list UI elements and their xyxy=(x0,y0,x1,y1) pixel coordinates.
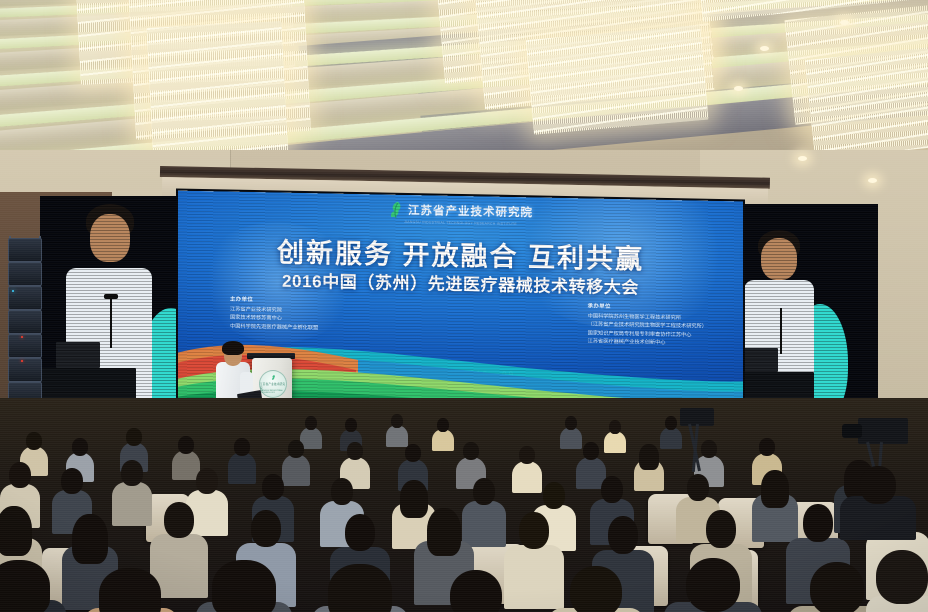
camera-rig-right xyxy=(836,416,926,536)
audience-head xyxy=(121,460,143,486)
audience-head xyxy=(345,418,357,432)
speaker-cabinet xyxy=(8,262,42,286)
wall-downlight xyxy=(798,156,807,161)
audience-head xyxy=(345,514,375,551)
audience-member xyxy=(386,414,408,444)
podium-emblem-line2: JIANGSU INDUSTRIAL TECHNOLOGY xyxy=(260,390,286,394)
audience-head xyxy=(706,510,736,548)
status-led xyxy=(12,290,14,292)
audience-head xyxy=(262,474,284,500)
audience-head xyxy=(61,468,83,494)
audience-long-hair xyxy=(99,568,161,612)
audience-head xyxy=(601,476,623,503)
camera-body xyxy=(858,418,908,444)
audience-body xyxy=(112,482,152,526)
audience-head xyxy=(803,504,833,542)
speaker-cabinet xyxy=(8,310,42,334)
audience-head xyxy=(565,416,577,430)
conference-hall-photo: 江苏省产业技术研究院 JIANGSU INDUSTRIAL TECHNOLOGY… xyxy=(0,0,928,612)
speaker-cabinet xyxy=(8,238,42,262)
podium-emblem: 江苏省产业技术研究院 JIANGSU INDUSTRIAL TECHNOLOGY xyxy=(259,370,287,398)
audience-head xyxy=(72,438,88,456)
crystal-chandelier xyxy=(805,43,928,160)
green-leaf-icon xyxy=(271,374,276,381)
audience-long-hair xyxy=(0,506,32,556)
speaker-cabinet xyxy=(8,358,42,382)
audience-long-hair xyxy=(639,444,659,470)
audience-head xyxy=(543,482,565,509)
audience-head xyxy=(26,432,42,450)
audience-head xyxy=(759,438,775,456)
audience-head xyxy=(609,420,621,434)
status-led xyxy=(21,360,23,362)
audience-head xyxy=(450,570,502,612)
camera-rig-center xyxy=(666,408,726,478)
crystal-chandelier xyxy=(526,25,709,135)
speaker-hair xyxy=(222,341,244,355)
status-led xyxy=(21,336,23,338)
audience-head xyxy=(810,562,864,612)
operator-head xyxy=(860,466,896,504)
audience-body xyxy=(432,429,454,451)
audience-member xyxy=(84,568,178,612)
audience-head xyxy=(437,418,449,432)
audience-head xyxy=(570,566,622,612)
audience-head xyxy=(288,440,304,458)
audience-member xyxy=(312,564,408,612)
audience-member xyxy=(664,558,762,612)
audience-member xyxy=(112,460,152,522)
camera-lens xyxy=(842,424,862,438)
screen-pixel-grid xyxy=(40,196,190,420)
audience-head xyxy=(519,512,549,549)
crystal-chandelier xyxy=(146,21,288,163)
audience-head xyxy=(251,510,281,547)
audience-head xyxy=(305,416,317,430)
podium-emblem-line1: 江苏省产业技术研究院 xyxy=(260,382,286,390)
audience-member xyxy=(428,570,524,612)
audience-head xyxy=(178,436,194,454)
ceiling-downlight xyxy=(760,46,769,51)
screen-pixel-grid xyxy=(736,204,878,420)
green-leaf-icon xyxy=(388,201,404,219)
audience-head xyxy=(164,502,194,538)
audience-head xyxy=(473,478,495,505)
audience-long-hair xyxy=(0,560,50,612)
audience-long-hair xyxy=(427,508,461,556)
audience-head xyxy=(196,468,218,494)
right-led-screen xyxy=(736,204,878,420)
audience-member xyxy=(196,560,292,612)
audience-long-hair xyxy=(212,560,276,612)
audience-head xyxy=(347,442,363,460)
speaker-cabinet xyxy=(8,334,42,358)
audience-long-hair xyxy=(72,514,108,564)
audience-long-hair xyxy=(761,470,789,508)
audience-head xyxy=(9,462,31,488)
audience-head xyxy=(463,442,479,460)
audience-member xyxy=(0,560,66,612)
audience-body xyxy=(604,431,626,453)
audience-head xyxy=(608,516,638,554)
audience-head xyxy=(583,442,599,460)
audience-head xyxy=(405,444,421,462)
audience-head xyxy=(519,446,535,464)
audience-member xyxy=(634,444,664,488)
audience-long-hair xyxy=(328,564,392,612)
organizers-heading: 主办单位 xyxy=(230,296,318,306)
audience-member xyxy=(866,550,928,612)
camera-operator xyxy=(840,466,916,536)
ceiling-downlight xyxy=(734,86,743,91)
audience-head xyxy=(687,474,709,501)
audience-head xyxy=(686,558,740,612)
wall-downlight xyxy=(868,178,877,183)
audience-head xyxy=(391,414,403,428)
audience-head xyxy=(876,550,928,604)
audience-head xyxy=(331,478,353,505)
audience-head xyxy=(234,438,250,456)
screen-institute-name: 江苏省产业技术研究院 xyxy=(408,202,533,220)
left-led-screen xyxy=(40,196,190,420)
audience-member xyxy=(548,566,644,612)
audience-head xyxy=(126,428,142,446)
ceiling-downlight xyxy=(840,20,849,25)
audience-member xyxy=(432,418,454,448)
audience-member xyxy=(604,420,626,450)
line-array-speaker-stack xyxy=(8,236,42,422)
audience-area xyxy=(0,398,928,612)
